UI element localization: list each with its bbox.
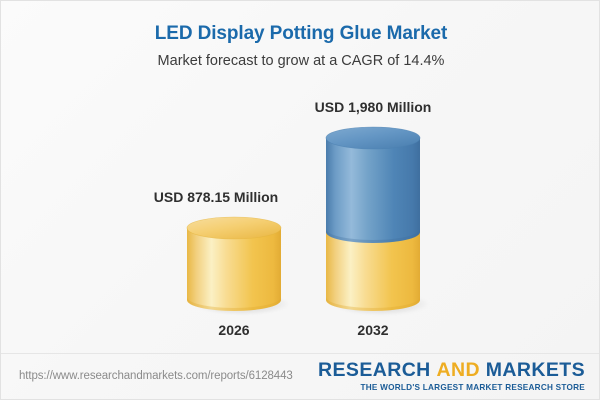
bar-chart-plot: USD 878.15 Million <box>1 1 600 353</box>
bar-cylinder-2032[interactable] <box>326 127 420 311</box>
logo-wordmark: RESEARCH AND MARKETS <box>318 361 585 381</box>
source-url-link[interactable]: https://www.researchandmarkets.com/repor… <box>19 370 293 382</box>
research-and-markets-logo[interactable]: RESEARCH AND MARKETS THE WORLD'S LARGEST… <box>318 361 585 392</box>
logo-word-and: AND <box>437 359 480 381</box>
cylinder-graphic-2032 <box>326 127 420 313</box>
logo-word-research: RESEARCH <box>318 359 431 381</box>
cylinder-graphic-2026 <box>187 217 281 313</box>
infographic-canvas: LED Display Potting Glue Market Market f… <box>0 0 600 400</box>
value-label-2032: USD 1,980 Million <box>283 99 463 115</box>
footer: https://www.researchandmarkets.com/repor… <box>1 354 600 400</box>
logo-word-markets: MARKETS <box>486 359 585 381</box>
logo-tagline: THE WORLD'S LARGEST MARKET RESEARCH STOR… <box>318 384 585 392</box>
bar-cylinder-2026[interactable] <box>187 217 281 311</box>
category-label-2032: 2032 <box>283 322 463 338</box>
value-label-2026: USD 878.15 Million <box>126 189 306 205</box>
